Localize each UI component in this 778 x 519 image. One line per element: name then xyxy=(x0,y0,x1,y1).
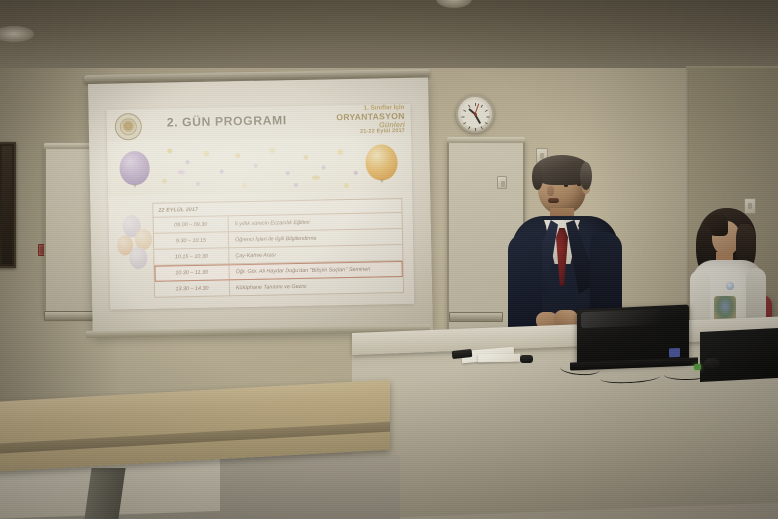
presenter-mouth xyxy=(548,198,559,203)
microphone-stand xyxy=(520,355,533,363)
classroom-photo: 2. GÜN PROGRAMI 1. Sınıflar İçin ORYANTA… xyxy=(0,0,778,519)
presentation-slide: 2. GÜN PROGRAMI 1. Sınıflar İçin ORYANTA… xyxy=(106,104,414,310)
row-time: 10.30 – 11.30 xyxy=(155,264,230,280)
row-desc: Çay-Kahve Arası xyxy=(229,249,402,258)
cable xyxy=(664,370,708,380)
presenter-nose xyxy=(547,186,554,196)
slide-subtitle-date: 21-22 Eylül 2017 xyxy=(337,129,406,136)
slide-title: 2. GÜN PROGRAMI xyxy=(167,113,287,129)
presenter-hair-side xyxy=(532,164,543,190)
ceiling xyxy=(0,0,778,74)
clock-face xyxy=(461,100,489,128)
whiteboard-rail xyxy=(447,137,525,143)
papers-on-desk xyxy=(478,354,520,363)
frame-inner xyxy=(2,146,12,264)
programme-table: 22 EYLÜL 2017 09.00 – 09.30 5 yıllık sür… xyxy=(152,198,404,298)
row-time: 10.15 – 10.30 xyxy=(154,248,229,264)
second-laptop[interactable] xyxy=(700,328,778,382)
university-seal-icon xyxy=(115,113,143,141)
wall-clock xyxy=(456,95,494,133)
confetti-banner xyxy=(107,136,412,196)
table-leg xyxy=(84,468,125,519)
row-time: 09.00 – 09.30 xyxy=(154,216,229,232)
row-desc: Kütüphane Tanıtımı ve Gezisi xyxy=(230,281,403,290)
clock-center-pin xyxy=(474,113,477,116)
laptop-screen-sheen xyxy=(581,309,661,328)
mouse[interactable] xyxy=(704,358,720,368)
whiteboard-tray xyxy=(449,312,503,322)
hp-logo-icon xyxy=(669,348,680,357)
balloon-right-icon xyxy=(365,144,398,181)
row-desc: Öğrenci İşleri ile ilgili Bilgilendirme xyxy=(229,234,402,243)
presenter-hair-side xyxy=(580,162,592,190)
row-desc: Öğr. Gör. Ali Haydar Doğu'dan "Bilişim S… xyxy=(230,265,403,274)
row-desc: 5 yıllık sürecin Eczacılık Eğitimi xyxy=(229,218,402,227)
row-time: 13.30 – 14.30 xyxy=(155,280,230,296)
programme-date: 22 EYLÜL 2017 xyxy=(153,206,198,213)
assistant-necklace xyxy=(726,282,734,290)
balloon-left-icon xyxy=(119,151,150,186)
framed-picture xyxy=(0,142,16,268)
green-indicator-led xyxy=(694,364,701,370)
projection-screen: 2. GÜN PROGRAMI 1. Sınıflar İçin ORYANTA… xyxy=(88,77,433,336)
balloon-cluster-decoration xyxy=(112,209,155,280)
row-time: 9.30 – 10.15 xyxy=(154,232,229,248)
slide-subtitle-block: 1. Sınıflar İçin ORYANTASYON Günleri 21-… xyxy=(336,105,405,136)
